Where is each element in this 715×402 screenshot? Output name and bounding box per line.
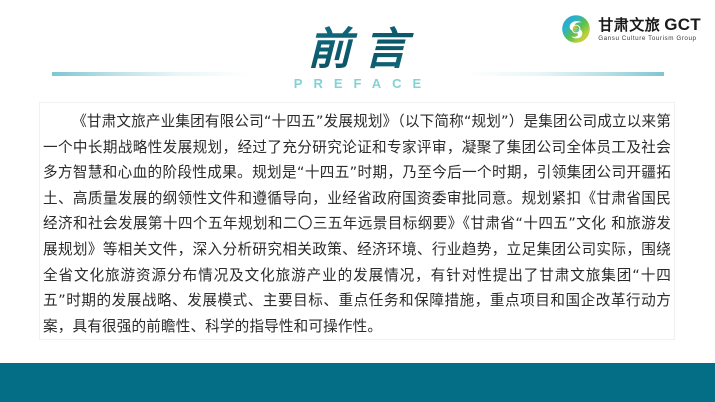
title-rule-right: [466, 72, 664, 76]
slide-title-area: 前言 PREFACE: [0, 26, 715, 100]
page-title: 前言: [258, 26, 458, 74]
title-rule-left: [52, 72, 250, 76]
footer-accent-bar: [0, 363, 715, 402]
preface-paragraph: 《甘肃文旅产业集团有限公司“十四五”发展规划》（以下简称“规划”）是集团公司成立…: [40, 109, 674, 339]
body-text-frame: 《甘肃文旅产业集团有限公司“十四五”发展规划》（以下简称“规划”）是集团公司成立…: [39, 102, 675, 340]
page-subtitle: PREFACE: [258, 76, 458, 91]
preface-slide: 甘肃文旅 GCT Gansu Culture Tourism Group 前言 …: [0, 0, 715, 402]
title-center: 前言 PREFACE: [258, 26, 458, 100]
